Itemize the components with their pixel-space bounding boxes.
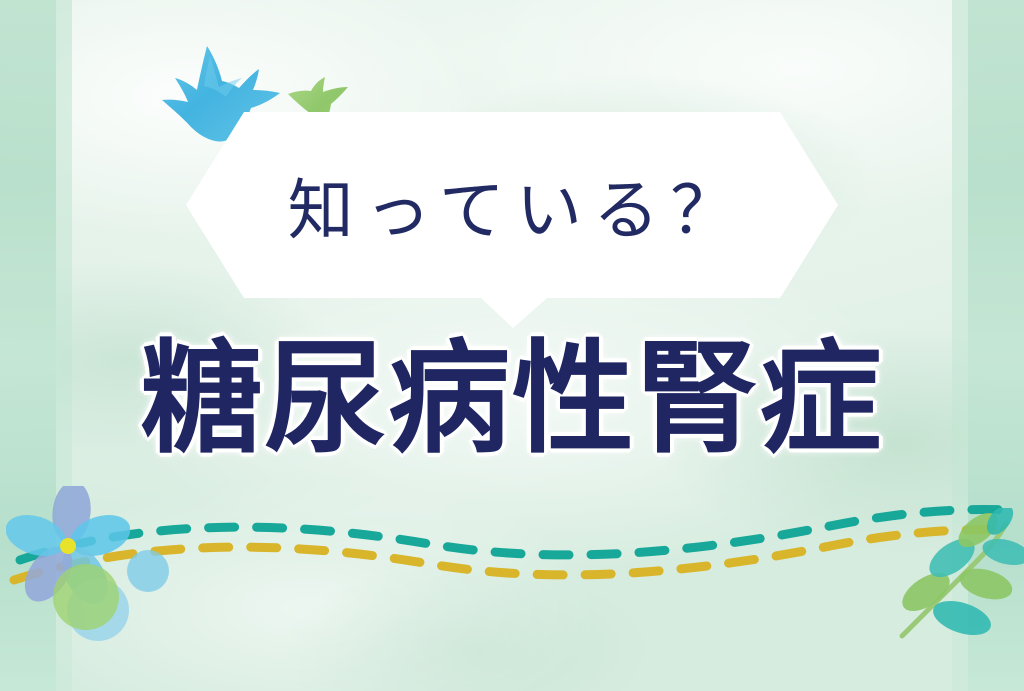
poster-canvas: 知っている？ 糖尿病性腎症 xyxy=(0,0,1024,691)
leaf-branch-icon xyxy=(896,508,1024,648)
circle-blue-small-icon xyxy=(125,548,171,594)
speech-bubble: 知っている？ xyxy=(186,112,838,328)
page-title: 糖尿病性腎症 xyxy=(0,338,1024,460)
bubble-text: 知っている？ xyxy=(186,112,838,298)
circle-green-icon xyxy=(50,562,130,642)
